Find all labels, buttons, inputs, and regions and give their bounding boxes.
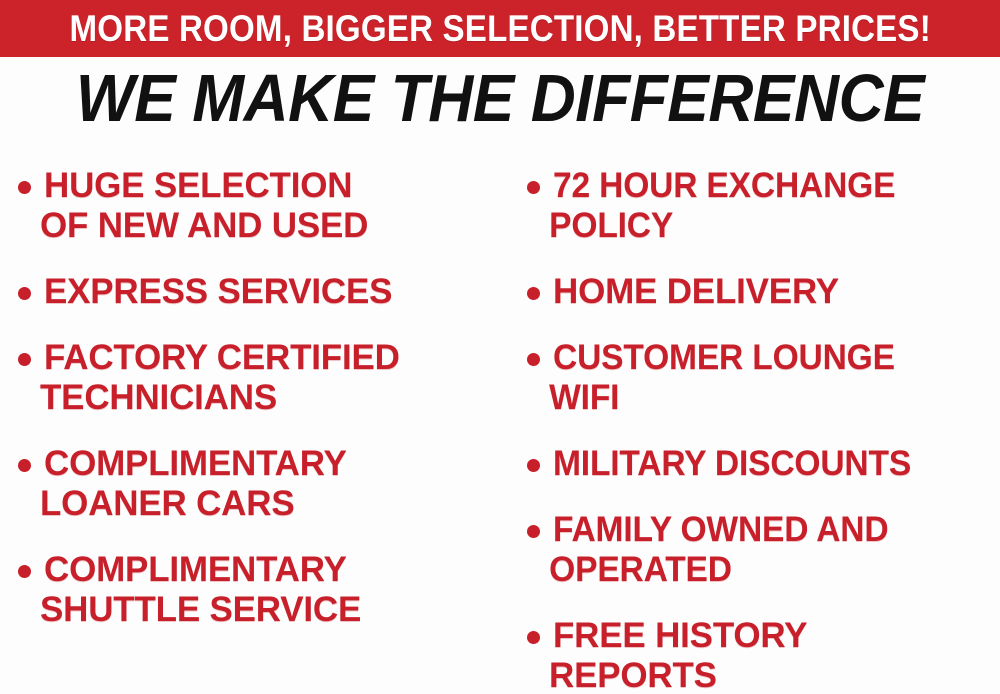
list-item: 72 HOUR EXCHANGE POLICY (527, 166, 1000, 246)
list-item-label: HUGE SELECTION OF NEW AND USED (44, 166, 368, 246)
list-item-line-2: OF NEW AND USED (40, 206, 368, 246)
list-item-line-1: FAMILY OWNED AND (553, 510, 888, 549)
list-item-label: FAMILY OWNED AND OPERATED (553, 510, 888, 590)
list-item-label: COMPLIMENTARY SHUTTLE SERVICE (44, 550, 361, 630)
list-item-line-2: TECHNICIANS (40, 378, 400, 418)
list-item-label: HOME DELIVERY (553, 272, 839, 312)
bullet-dot-icon (527, 459, 540, 472)
list-item-label: MILITARY DISCOUNTS (553, 444, 911, 484)
list-item: FREE HISTORY REPORTS (527, 616, 1000, 694)
bullet-dot-icon (18, 181, 31, 194)
list-item-line-1: COMPLIMENTARY (44, 550, 347, 589)
headline-text: WE MAKE THE DIFFERENCE (76, 63, 924, 135)
left-benefits-column: HUGE SELECTION OF NEW AND USED EXPRESS S… (0, 158, 505, 656)
right-benefits-column: 72 HOUR EXCHANGE POLICY HOME DELIVERY CU… (505, 158, 1000, 694)
list-item-line-2: POLICY (549, 206, 895, 246)
bullet-dot-icon (18, 353, 31, 366)
list-item: HOME DELIVERY (527, 272, 1000, 312)
list-item-line-1: 72 HOUR EXCHANGE (553, 166, 895, 205)
list-item-label: FREE HISTORY REPORTS (553, 616, 807, 694)
list-item-line-2: OPERATED (549, 550, 888, 590)
list-item-label: EXPRESS SERVICES (44, 272, 392, 312)
list-item-label: FACTORY CERTIFIED TECHNICIANS (44, 338, 400, 418)
list-item-line-2: SHUTTLE SERVICE (40, 590, 361, 630)
list-item-label: CUSTOMER LOUNGE WIFI (553, 338, 895, 418)
bullet-dot-icon (527, 631, 540, 644)
list-item-line-1: FACTORY CERTIFIED (44, 338, 400, 377)
list-item: MILITARY DISCOUNTS (527, 444, 1000, 484)
list-item: FAMILY OWNED AND OPERATED (527, 510, 1000, 590)
list-item-line-1: MILITARY DISCOUNTS (553, 444, 911, 483)
list-item-line-1: CUSTOMER LOUNGE (553, 338, 895, 377)
bullet-dot-icon (527, 181, 540, 194)
headline: WE MAKE THE DIFFERENCE (0, 63, 1000, 135)
list-item: FACTORY CERTIFIED TECHNICIANS (18, 338, 505, 418)
bullet-dot-icon (527, 353, 540, 366)
list-item-line-1: EXPRESS SERVICES (44, 272, 392, 311)
list-item: HUGE SELECTION OF NEW AND USED (18, 166, 505, 246)
list-item-line-2: REPORTS (549, 656, 807, 694)
list-item: COMPLIMENTARY LOANER CARS (18, 444, 505, 524)
top-banner: MORE ROOM, BIGGER SELECTION, BETTER PRIC… (0, 0, 1000, 57)
benefits-columns: HUGE SELECTION OF NEW AND USED EXPRESS S… (0, 158, 1000, 694)
list-item-line-2: LOANER CARS (40, 484, 347, 524)
bullet-dot-icon (527, 525, 540, 538)
list-item-line-1: COMPLIMENTARY (44, 444, 347, 483)
bullet-dot-icon (527, 287, 540, 300)
list-item-line-2: WIFI (549, 378, 895, 418)
list-item: COMPLIMENTARY SHUTTLE SERVICE (18, 550, 505, 630)
banner-headline-text: MORE ROOM, BIGGER SELECTION, BETTER PRIC… (69, 10, 930, 47)
bullet-dot-icon (18, 565, 31, 578)
list-item-label: COMPLIMENTARY LOANER CARS (44, 444, 347, 524)
bullet-dot-icon (18, 287, 31, 300)
bullet-dot-icon (18, 459, 31, 472)
list-item-line-1: FREE HISTORY (553, 616, 807, 655)
list-item: EXPRESS SERVICES (18, 272, 505, 312)
list-item: CUSTOMER LOUNGE WIFI (527, 338, 1000, 418)
list-item-line-1: HUGE SELECTION (44, 166, 352, 205)
advertisement-poster: MORE ROOM, BIGGER SELECTION, BETTER PRIC… (0, 0, 1000, 694)
list-item-line-1: HOME DELIVERY (553, 272, 839, 311)
list-item-label: 72 HOUR EXCHANGE POLICY (553, 166, 895, 246)
